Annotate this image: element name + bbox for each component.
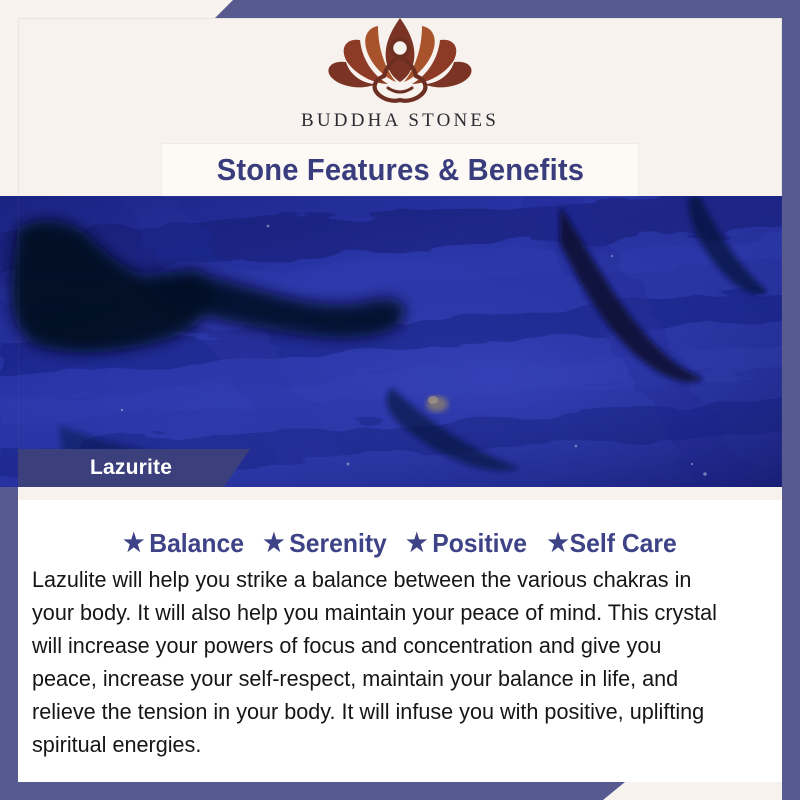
star-icon: ★: [547, 531, 568, 556]
benefit-label: Serenity: [290, 528, 387, 559]
brand-logo-block: BUDDHA STONES: [0, 14, 800, 144]
stone-name-band: Lazurite: [18, 449, 250, 487]
benefit-item-self-care: ★ Self Care: [547, 528, 676, 559]
stone-benefits-poster: BUDDHA STONES Stone Features & Benefits …: [0, 0, 800, 800]
stone-description: Lazulite will help you strike a balance …: [32, 563, 731, 761]
star-icon: ★: [123, 531, 144, 556]
benefit-label: Positive: [433, 528, 528, 559]
benefits-row: ★ Balance ★ Serenity ★ Positive ★ Self C…: [18, 528, 782, 559]
title-banner: Stone Features & Benefits: [162, 144, 638, 196]
brand-wordmark: BUDDHA STONES: [301, 110, 499, 132]
lazurite-stone-photo: [0, 196, 800, 488]
benefit-label: Self Care: [569, 528, 676, 559]
card-top-strip: [18, 487, 782, 501]
content-card: ★ Balance ★ Serenity ★ Positive ★ Self C…: [18, 500, 782, 782]
stone-name-label: Lazurite: [90, 456, 172, 480]
benefit-item-serenity: ★ Serenity: [264, 528, 388, 559]
page-title: Stone Features & Benefits: [216, 152, 583, 188]
frame-bottom-bar: [0, 782, 625, 800]
benefit-label: Balance: [149, 528, 244, 559]
star-icon: ★: [264, 531, 285, 556]
benefit-item-positive: ★ Positive: [407, 528, 528, 559]
benefit-item-balance: ★ Balance: [123, 528, 244, 559]
star-icon: ★: [407, 531, 428, 556]
frame-left-bar: [0, 487, 18, 800]
stone-photo-graphic: [0, 196, 800, 488]
lotus-meditation-figure-icon: [316, 14, 484, 106]
